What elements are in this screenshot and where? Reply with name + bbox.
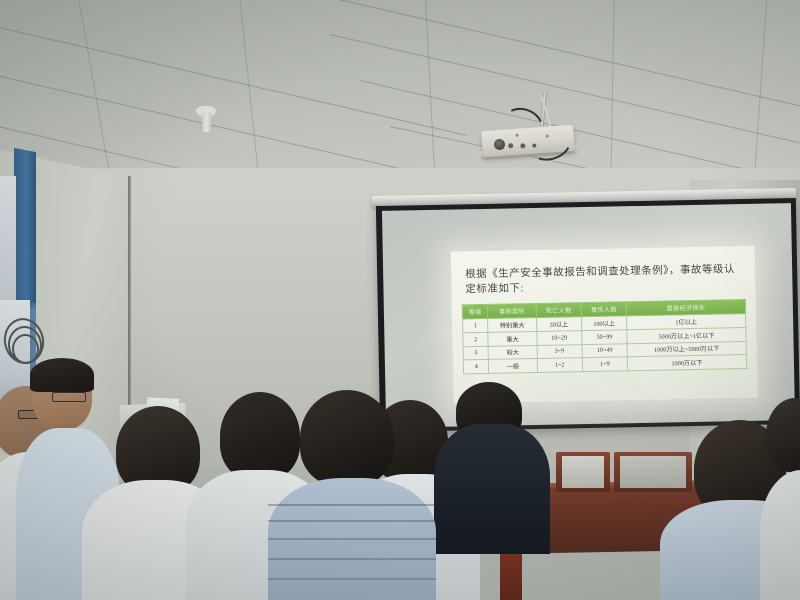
cell-injuries: 10~49 <box>582 343 628 357</box>
cell-injuries: 100以上 <box>581 316 627 330</box>
col-header-category: 事故类别 <box>488 304 536 319</box>
cell-loss: 1000万以下 <box>627 355 746 371</box>
cell-level: 2 <box>463 332 489 346</box>
window-panel-upper <box>0 176 16 302</box>
blue-wall-trim <box>14 148 36 308</box>
accident-grade-table: 等级 事故类别 死亡人数 重伤人数 直接经济损失 1 特别重大 30以上 100 <box>462 299 747 374</box>
cell-level: 3 <box>463 346 489 360</box>
attendee-head <box>300 390 394 486</box>
projection-screen-surface: 根据《生产安全事故报告和调查处理条例》，事故等级认定标准如下: 等级 事故类别 … <box>382 203 795 428</box>
chair-pad-left <box>562 456 604 488</box>
cell-deaths: 1~2 <box>537 358 583 372</box>
cell-level: 1 <box>463 319 489 333</box>
glasses-icon <box>52 392 86 402</box>
col-header-deaths: 死亡人数 <box>536 303 582 318</box>
cell-deaths: 30以上 <box>536 317 582 331</box>
slide-title: 根据《生产安全事故报告和调查处理条例》，事故等级认定标准如下: <box>465 262 744 298</box>
left-wall-corner <box>128 176 131 424</box>
cell-category: 特别重大 <box>488 318 536 333</box>
cell-deaths: 10~29 <box>536 331 582 345</box>
projected-slide: 根据《生产安全事故报告和调查处理条例》，事故等级认定标准如下: 等级 事故类别 … <box>451 246 758 404</box>
attendee-hair <box>30 358 94 392</box>
meeting-room-photo: 根据《生产安全事故报告和调查处理条例》，事故等级认定标准如下: 等级 事故类别 … <box>0 0 800 600</box>
cell-category: 一般 <box>489 359 537 374</box>
cell-level: 4 <box>463 360 489 374</box>
col-header-injuries: 重伤人数 <box>581 302 627 317</box>
chair-pad-right <box>620 456 686 488</box>
cell-injuries: 50~99 <box>582 330 628 344</box>
attendee-head <box>220 392 300 480</box>
projection-screen: 根据《生产安全事故报告和调查处理条例》，事故等级认定标准如下: 等级 事故类别 … <box>376 198 800 432</box>
cell-category: 较大 <box>489 345 537 360</box>
attendee-striped-blue-polo <box>268 478 436 600</box>
cell-injuries: 1~9 <box>582 357 628 371</box>
col-header-level: 等级 <box>462 305 488 319</box>
cell-deaths: 3~9 <box>537 344 583 358</box>
smoke-detector-stem <box>202 112 211 132</box>
cell-category: 重大 <box>488 332 536 347</box>
attendee-dark-shirt-center <box>434 424 550 554</box>
